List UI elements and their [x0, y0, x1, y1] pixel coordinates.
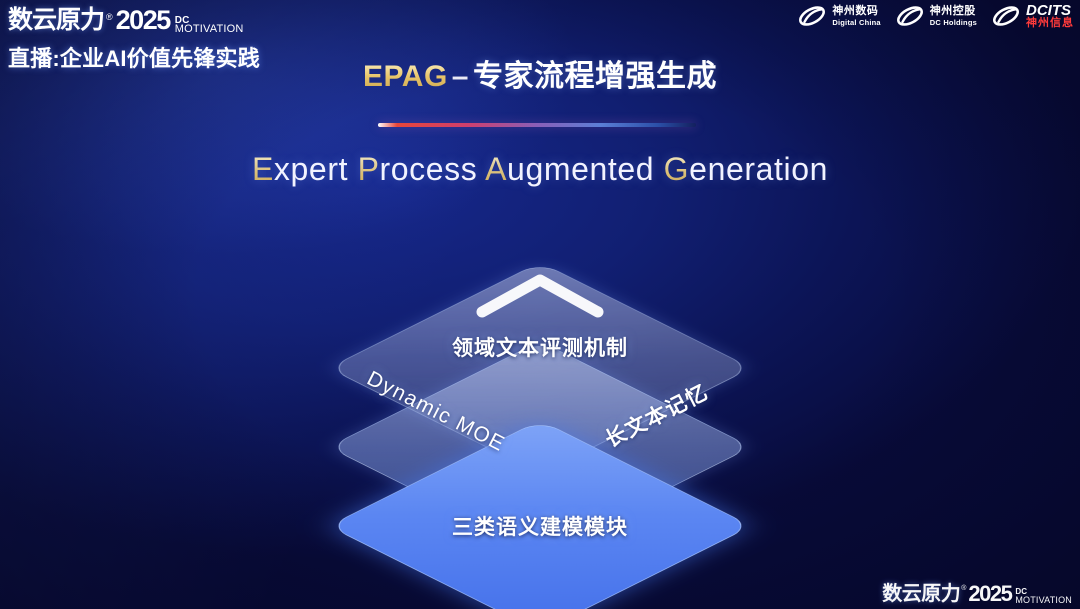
title-divider	[378, 123, 696, 127]
brand-registered-mark: ®	[106, 12, 113, 22]
footer-brand-year: 2025	[968, 583, 1011, 605]
swirl-icon	[991, 3, 1021, 29]
brand-name-cn: 数云原力	[8, 6, 104, 34]
layer-label-bottom: 三类语义建模模块	[452, 511, 628, 541]
subtitle-rest: ugmented	[507, 151, 664, 187]
subtitle-word-generation: Generation	[664, 151, 828, 187]
chevron-up-icon	[474, 272, 606, 318]
subtitle-initial: E	[252, 151, 274, 187]
slide-canvas: 数云原力 ® 2025 DC MOTIVATION 直播:企业AI价值先锋实践 …	[0, 0, 1080, 609]
subtitle-rest: eneration	[689, 151, 828, 187]
logo-dc-holdings: 神州控股 DC Holdings	[895, 3, 977, 29]
footer-brand-name-cn: 数云原力	[882, 583, 960, 605]
layer-label-top: 领域文本评测机制	[452, 332, 628, 362]
logo-text-dc-holdings: 神州控股 DC Holdings	[930, 6, 977, 27]
title-chinese: 专家流程增强生成	[473, 60, 717, 93]
subtitle-initial: A	[485, 151, 507, 187]
brand-dc-line2: MOTIVATION	[175, 25, 244, 34]
logo-name-en: Digital China	[832, 19, 880, 27]
title-acronym: EPAG	[363, 60, 448, 93]
logo-text-digital-china: 神州数码 Digital China	[832, 6, 880, 27]
footer-brand-dc-motivation: DC MOTIVATION	[1015, 587, 1072, 605]
footer-brand-registered-mark: ®	[961, 584, 966, 594]
logo-dcits: DCITS 神州信息	[991, 3, 1074, 29]
subtitle-word-process: Process	[358, 151, 486, 187]
footer-brand-dc-line2: MOTIVATION	[1015, 596, 1072, 605]
swirl-icon	[895, 3, 925, 29]
subtitle-word-augmented: Augmented	[485, 151, 664, 187]
live-stream-title: 直播:企业AI价值先锋实践	[8, 41, 338, 73]
header-left-block: 数云原力 ® 2025 DC MOTIVATION 直播:企业AI价值先锋实践	[8, 2, 338, 73]
logo-name-cn: 神州数码	[832, 6, 880, 17]
partner-logo-group: 神州数码 Digital China 神州控股 DC Holdings DCIT…	[797, 3, 1074, 29]
subtitle-word-expert: Expert	[252, 151, 358, 187]
footer-brand-watermark: 数云原力 ® 2025 DC MOTIVATION	[882, 583, 1072, 605]
logo-name-en: 神州信息	[1026, 18, 1074, 29]
logo-text-dcits: DCITS 神州信息	[1026, 3, 1074, 29]
logo-digital-china: 神州数码 Digital China	[797, 3, 880, 29]
subtitle-rest: xpert	[274, 151, 358, 187]
subtitle-initial: P	[358, 151, 380, 187]
event-brand-logo: 数云原力 ® 2025 DC MOTIVATION	[8, 2, 338, 34]
title-dash: –	[448, 60, 473, 93]
logo-name-cn: 神州控股	[930, 6, 977, 17]
brand-year: 2025	[116, 6, 170, 34]
swirl-icon	[797, 3, 827, 29]
subtitle-initial: G	[664, 151, 690, 187]
subtitle-rest: rocess	[380, 151, 486, 187]
logo-name-cn: DCITS	[1026, 3, 1074, 18]
brand-dc-motivation: DC MOTIVATION	[175, 16, 244, 34]
logo-name-en: DC Holdings	[930, 19, 977, 27]
slide-subtitle: Expert Process Augmented Generation	[0, 151, 1080, 188]
